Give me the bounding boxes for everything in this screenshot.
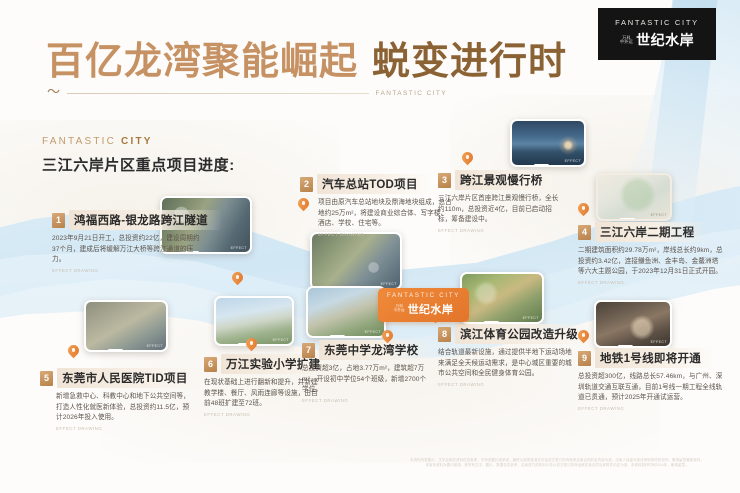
project-card-metro-head: 9 地铁1号线即将开通 xyxy=(578,348,724,368)
sports-park-photo-caption: EFFECT xyxy=(523,316,539,320)
project-number-badge: 7 xyxy=(302,343,315,358)
project-card-bridge-body: 三江六岸片区首座跨江景观慢行桥，全长约110m，总投资近4亿，目前已启动招标，筹… xyxy=(438,194,562,226)
project-card-hospital-title: 东莞市人民医院TID项目 xyxy=(57,368,202,388)
sports-park-photo-image xyxy=(462,274,542,322)
project-card-metro[interactable]: 9 地铁1号线即将开通 总投资超300亿，线路总长57.46km，与广州、深圳轨… xyxy=(578,348,724,411)
watermark-badge: FANTASTIC CITY 万科 中外运 世纪水岸 xyxy=(378,288,469,322)
project-card-tod-title: 汽车总站TOD项目 xyxy=(317,174,432,194)
pedestrian-bridge-night-photo: EFFECT xyxy=(510,119,586,167)
project-card-tod-foot: EFFECT DRAWING xyxy=(300,232,452,237)
divider-tag: FANTASTIC CITY xyxy=(376,90,447,97)
tilde-ornament-icon: 〜 xyxy=(47,85,60,98)
tod-station-aerial-photo-image xyxy=(312,234,400,288)
project-card-middle-school-body: 总投资超3亿，占地3.77万m²，建筑超7万m²，开设初中学位54个班级，新增2… xyxy=(302,364,430,396)
project-card-sports-park-foot: EFFECT DRAWING xyxy=(438,382,574,387)
metro-interior-photo: EFFECT xyxy=(594,300,672,348)
sports-park-photo: EFFECT xyxy=(460,272,544,324)
primary-school-photo-caption: EFFECT xyxy=(273,338,289,342)
project-card-metro-foot: EFFECT DRAWING xyxy=(578,406,724,411)
tunnel-aerial-photo-caption: EFFECT xyxy=(231,246,247,250)
page-title: 百亿龙湾聚能崛起蜕变进行时 xyxy=(46,30,567,85)
location-pin-metro[interactable] xyxy=(578,330,589,345)
project-card-middle-school[interactable]: 7 东莞中学龙湾学校 总投资超3亿，占地3.77万m²，建筑超7万m²，开设初中… xyxy=(302,340,430,403)
location-pin-hospital[interactable] xyxy=(68,345,79,360)
location-pin-primary-school[interactable] xyxy=(246,338,257,353)
pedestrian-bridge-night-photo-caption: EFFECT xyxy=(565,159,581,163)
project-card-middle-school-foot: EFFECT DRAWING xyxy=(302,398,430,403)
divider-line xyxy=(67,93,369,94)
brand-logo-cn-row: 万科 中外运 世纪水岸 xyxy=(620,30,694,50)
project-card-tunnel-foot: EFFECT DRAWING xyxy=(52,268,202,273)
page-title-part1: 百亿龙湾聚能崛起 xyxy=(46,41,358,83)
watermark-mark-bottom: 中外运 xyxy=(394,309,405,313)
middle-school-render-photo-image xyxy=(308,288,384,336)
page-title-part2: 蜕变进行时 xyxy=(372,41,567,83)
project-card-sports-park-body: 结合轨道最新设施，通过提供半地下运动场地来满足全天候运动需求，是中心城区重要的城… xyxy=(438,348,574,380)
brand-logo: FANTASTIC CITY 万科 中外运 世纪水岸 xyxy=(598,8,716,60)
project-card-tunnel[interactable]: 1 鸿福西路-银龙路跨江隧道 2023年9月21日开工，总投资约22亿，建设周期… xyxy=(52,210,202,273)
project-card-tod-head: 2 汽车总站TOD项目 xyxy=(300,174,452,194)
watermark-badge-en: FANTASTIC CITY xyxy=(387,293,460,299)
project-number-badge: 4 xyxy=(578,225,591,240)
project-number-badge: 8 xyxy=(438,327,451,342)
location-pin-riverfront[interactable] xyxy=(578,203,589,218)
location-pin-middle-school[interactable] xyxy=(382,330,393,345)
poster-header: FANTASTIC CITY 万科 中外运 世纪水岸 百亿龙湾聚能崛起蜕变进行时… xyxy=(0,0,740,108)
watermark-badge-cn: 世纪水岸 xyxy=(408,301,454,317)
hospital-aerial-photo-caption: EFFECT xyxy=(147,344,163,348)
project-card-riverfront-foot: EFFECT DRAWING xyxy=(578,280,724,285)
section-label-cn: 三江六岸片区重点项目进度: xyxy=(42,154,235,175)
section-label-en-light: FANTASTIC xyxy=(42,136,121,147)
project-card-metro-body: 总投资超300亿，线路总长57.46km，与广州、深圳轨道交通互联互通，目前1号… xyxy=(578,372,724,404)
project-card-riverfront-body: 二期建筑面积约29.78万m²，岸线总长约9km，总投资约3.42亿，连接鳒鱼洲… xyxy=(578,246,724,278)
tod-station-aerial-photo-caption: EFFECT xyxy=(381,282,397,286)
project-card-hospital[interactable]: 5 东莞市人民医院TID项目 新增急救中心、科教中心和地下公共空间等，打造人性化… xyxy=(40,368,192,431)
poster-canvas: FANTASTIC CITY 万科 中外运 世纪水岸 百亿龙湾聚能崛起蜕变进行时… xyxy=(0,0,740,493)
watermark-badge-row: 万科 中外运 世纪水岸 xyxy=(394,301,453,317)
middle-school-render-photo: EFFECT xyxy=(306,286,386,338)
project-card-middle-school-head: 7 东莞中学龙湾学校 xyxy=(302,340,430,360)
watermark-developer-mark-icon: 万科 中外运 xyxy=(394,305,405,313)
project-card-bridge-head: 3 跨江景观慢行桥 xyxy=(438,170,562,190)
project-card-tunnel-title: 鸿福西路-银龙路跨江隧道 xyxy=(69,210,222,230)
developer-mark-bottom: 中外运 xyxy=(620,40,633,44)
middle-school-render-photo-caption: EFFECT xyxy=(365,330,381,334)
project-card-hospital-body: 新增急救中心、科教中心和地下公共空间等，打造人性化就医新体验，总投资约11.5亿… xyxy=(40,392,192,424)
project-number-badge: 9 xyxy=(578,351,591,366)
metro-interior-photo-caption: EFFECT xyxy=(651,340,667,344)
hospital-aerial-photo: EFFECT xyxy=(84,300,168,352)
project-card-bridge-title: 跨江景观慢行桥 xyxy=(455,170,557,190)
project-card-riverfront-head: 4 三江六岸二期工程 xyxy=(578,222,724,242)
project-card-riverfront-title: 三江六岸二期工程 xyxy=(595,222,708,242)
footer-disclaimer: 本资料所载图片、文字及相关资料仅供参考，不构成要约或承诺，最终以政府批准文件及双… xyxy=(392,458,722,469)
project-card-tod[interactable]: 2 汽车总站TOD项目 项目由原汽车总站地块及鼎海地块组成，总占地约25万m²，… xyxy=(300,174,452,237)
project-card-sports-park-title: 滨江体育公园改造升级 xyxy=(455,324,592,344)
project-number-badge: 3 xyxy=(438,173,451,188)
project-number-badge: 2 xyxy=(300,177,313,192)
project-card-sports-park-head: 8 滨江体育公园改造升级 xyxy=(438,324,574,344)
project-card-bridge[interactable]: 3 跨江景观慢行桥 三江六岸片区首座跨江景观慢行桥，全长约110m，总投资近4亿… xyxy=(438,170,562,233)
developer-mark-icon: 万科 中外运 xyxy=(620,36,633,45)
brand-logo-en: FANTASTIC CITY xyxy=(615,18,699,27)
project-card-tod-body: 项目由原汽车总站地块及鼎海地块组成，总占地约25万m²，将建设商业综合体、写字楼… xyxy=(300,198,452,230)
project-card-middle-school-title: 东莞中学龙湾学校 xyxy=(319,340,432,360)
project-card-primary-school-foot: EFFECT DRAWING xyxy=(204,412,320,417)
project-number-badge: 6 xyxy=(204,357,217,372)
project-card-tunnel-body: 2023年9月21日开工，总投资约22亿，建设周期约37个月，建成后将缓解万江大… xyxy=(52,234,202,266)
riverfront-masterplan-photo: EFFECT xyxy=(596,173,672,221)
location-pin-tunnel[interactable] xyxy=(232,272,243,287)
riverfront-masterplan-photo-caption: EFFECT xyxy=(651,213,667,217)
project-number-badge: 1 xyxy=(52,213,65,228)
header-divider: 〜 FANTASTIC CITY xyxy=(47,88,447,98)
project-card-hospital-foot: EFFECT DRAWING xyxy=(40,426,192,431)
hospital-aerial-photo-image xyxy=(86,302,166,350)
tod-station-aerial-photo: EFFECT xyxy=(310,232,402,290)
section-label-en-bold: CITY xyxy=(121,136,153,147)
project-card-hospital-head: 5 东莞市人民医院TID项目 xyxy=(40,368,192,388)
project-card-metro-title: 地铁1号线即将开通 xyxy=(595,348,715,368)
section-label-en: FANTASTIC CITY xyxy=(42,136,235,147)
footer-disclaimer-line2: 本宣传资料为要约邀请，其所有文字、图片、数据仅供参考，买卖双方的权利义务以双方签… xyxy=(392,463,722,469)
section-heading: FANTASTIC CITY 三江六岸片区重点项目进度: xyxy=(42,136,235,175)
brand-logo-cn: 世纪水岸 xyxy=(636,30,694,50)
project-number-badge: 5 xyxy=(40,371,53,386)
location-pin-tod[interactable] xyxy=(298,198,309,213)
location-pin-bridge[interactable] xyxy=(462,152,473,167)
project-card-riverfront[interactable]: 4 三江六岸二期工程 二期建筑面积约29.78万m²，岸线总长约9km，总投资约… xyxy=(578,222,724,285)
project-card-bridge-foot: EFFECT DRAWING xyxy=(438,228,562,233)
project-card-tunnel-head: 1 鸿福西路-银龙路跨江隧道 xyxy=(52,210,202,230)
project-card-sports-park[interactable]: 8 滨江体育公园改造升级 结合轨道最新设施，通过提供半地下运动场地来满足全天候运… xyxy=(438,324,574,387)
